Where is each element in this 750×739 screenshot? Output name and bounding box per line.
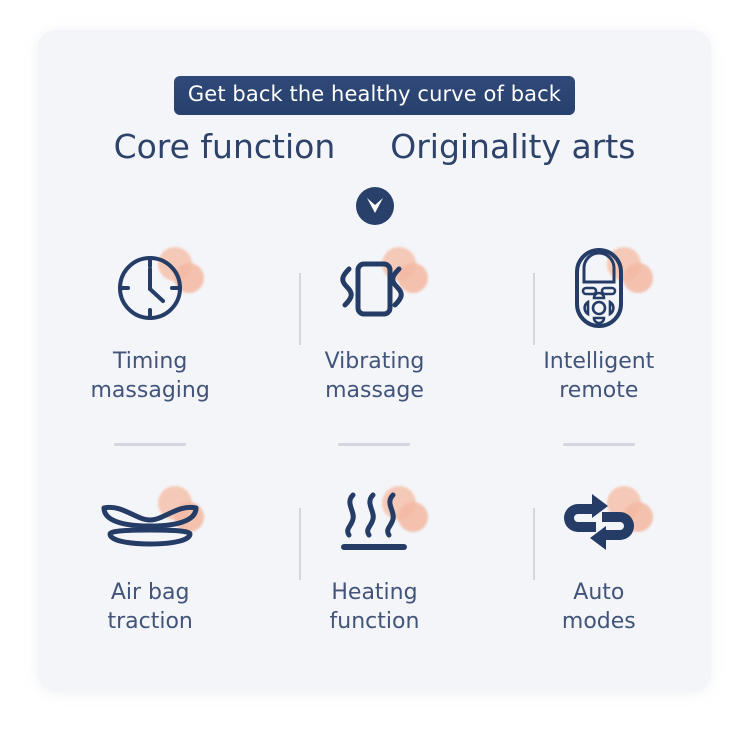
- feature-label: Air bag traction: [107, 578, 192, 637]
- feature-label: Heating function: [330, 578, 420, 637]
- badge-container: Get back the healthy curve of back: [38, 76, 711, 115]
- feature-item-intelligent-remote[interactable]: Intelligent remote: [487, 235, 711, 470]
- feature-label: Timing massaging: [91, 347, 210, 406]
- horizontal-divider: [338, 443, 410, 446]
- headline-right: Originality arts: [390, 127, 635, 166]
- chevron-container: [38, 187, 711, 229]
- feature-row-1: Timing massaging Vibrating massa: [38, 235, 711, 470]
- icon-box: [314, 480, 434, 564]
- peach-blob-decoration: [623, 263, 653, 293]
- headline-left: Core function: [114, 127, 336, 166]
- feature-item-auto-modes[interactable]: Auto modes: [487, 470, 711, 670]
- clock-icon: [113, 251, 187, 325]
- product-feature-panel: Get back the healthy curve of back Core …: [0, 0, 750, 739]
- feature-item-timing-massaging[interactable]: Timing massaging: [38, 235, 262, 470]
- feature-label: Auto modes: [562, 578, 636, 637]
- feature-label: Vibrating massage: [325, 347, 425, 406]
- feature-item-vibrating-massage[interactable]: Vibrating massage: [262, 235, 486, 470]
- feature-card: Get back the healthy curve of back Core …: [38, 30, 711, 691]
- icon-box: [314, 241, 434, 335]
- feature-row-2: Air bag traction Heating fun: [38, 470, 711, 670]
- vibrating-phone-icon: [331, 251, 417, 325]
- feature-item-heating-function[interactable]: Heating function: [262, 470, 486, 670]
- icon-box: [90, 241, 210, 335]
- page-title: Core function Originality arts: [38, 130, 711, 163]
- chevron-down-icon[interactable]: [356, 187, 394, 225]
- icon-box: [90, 480, 210, 564]
- feature-grid: Timing massaging Vibrating massa: [38, 235, 711, 670]
- repeat-loop-icon: [556, 492, 642, 552]
- horizontal-divider: [114, 443, 186, 446]
- horizontal-divider: [563, 443, 635, 446]
- heat-waves-icon: [336, 489, 412, 555]
- icon-box: [539, 241, 659, 335]
- icon-box: [539, 480, 659, 564]
- feature-item-air-bag-traction[interactable]: Air bag traction: [38, 470, 262, 670]
- air-bag-cushion-icon: [98, 494, 202, 550]
- tagline-badge: Get back the healthy curve of back: [174, 76, 575, 115]
- remote-control-icon: [571, 246, 627, 330]
- feature-label: Intelligent remote: [543, 347, 654, 406]
